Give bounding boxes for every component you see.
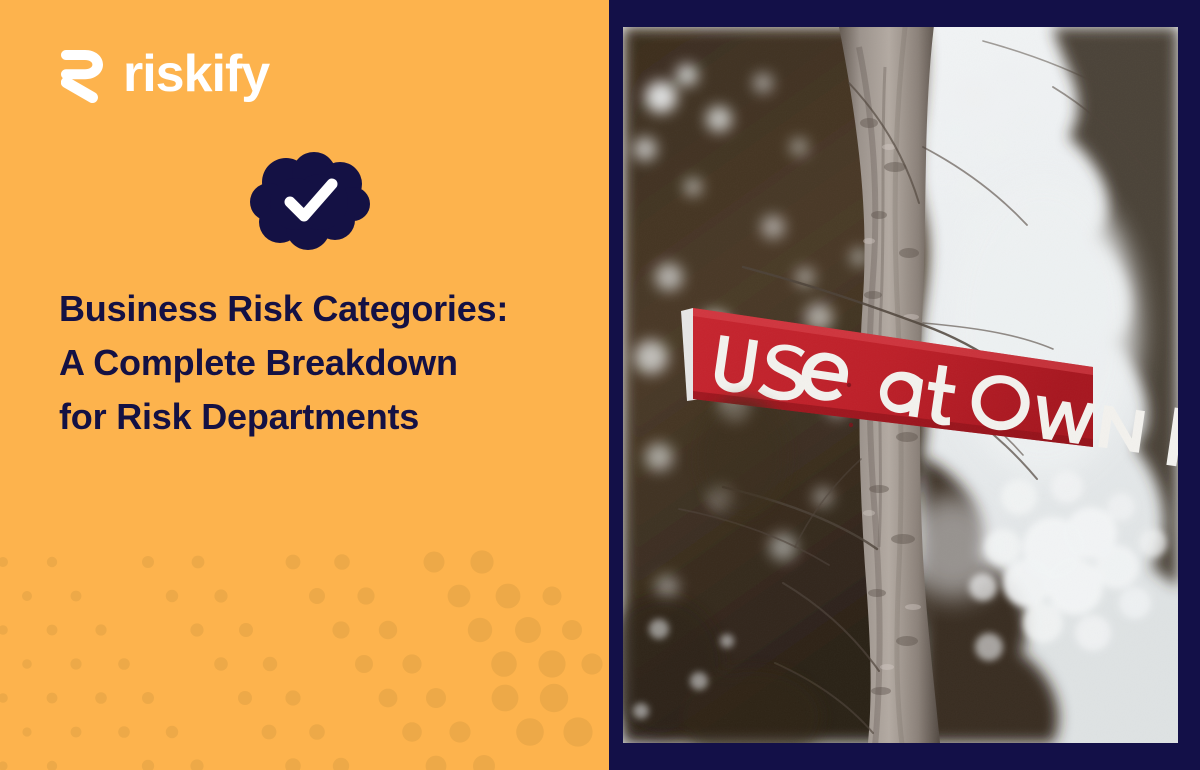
brand-wordmark: riskify (123, 48, 269, 100)
halftone-dot-grid (0, 540, 609, 770)
hero-photo: USE at OWN RISK (623, 27, 1178, 743)
check-cloud-badge-icon (250, 152, 372, 252)
riskify-r-mark-icon (61, 45, 107, 103)
page-title-line-3: for Risk Departments (59, 390, 579, 444)
page-title-line-2: A Complete Breakdown (59, 336, 579, 390)
page-title-line-1: Business Risk Categories: (59, 282, 579, 336)
hero-banner: riskify (0, 0, 1200, 770)
page-title: Business Risk Categories: A Complete Bre… (59, 282, 579, 444)
left-content-panel: riskify (0, 0, 609, 770)
brand-logo[interactable]: riskify (61, 45, 269, 103)
right-image-panel: USE at OWN RISK (609, 0, 1200, 770)
